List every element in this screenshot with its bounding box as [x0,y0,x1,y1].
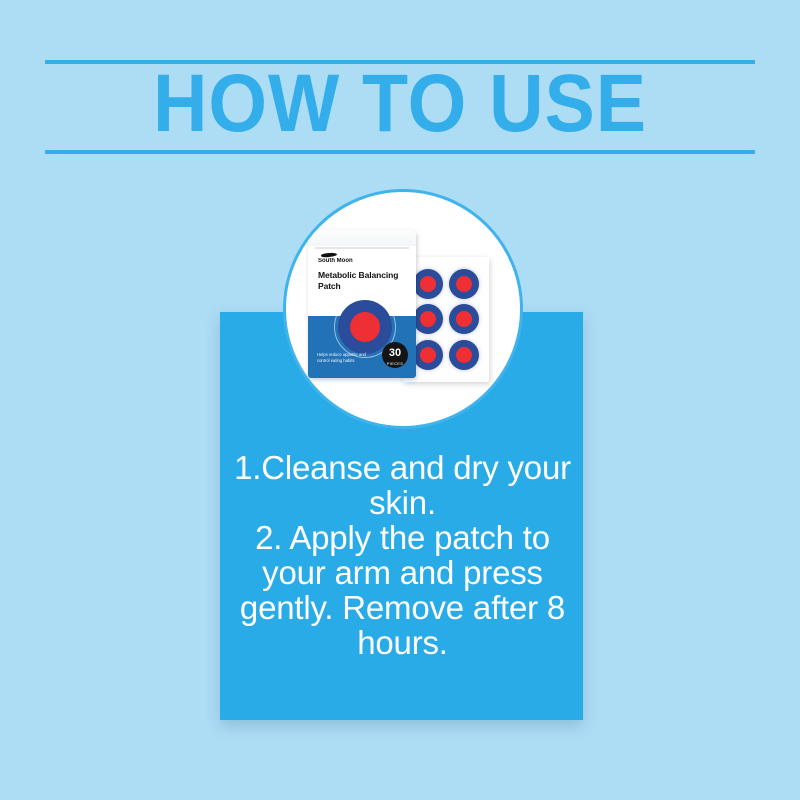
product-photo-circle: South Moon Metabolic Balancing Patch Hel… [283,189,523,429]
page-title: HOW TO USE [32,58,768,150]
instruction-step-2: 2. Apply the patch to your arm and press… [230,520,575,660]
patch-grid [411,267,481,372]
pouch-zip-line [315,247,409,249]
poster-canvas: HOW TO USE 1.Cleanse and dry your skin. … [0,0,800,800]
instruction-text-block: 1.Cleanse and dry your skin. 2. Apply th… [230,450,575,660]
count-badge-number: 30 [382,342,408,361]
pouch-brand-name: South Moon [318,257,378,266]
patch-item [449,304,479,334]
count-badge: 30 PIECES [382,342,408,368]
pouch-top-seal [308,230,416,246]
patch-item [449,269,479,299]
product-pouch: South Moon Metabolic Balancing Patch Hel… [308,230,416,378]
title-rule-bottom [45,150,755,154]
patch-item [449,340,479,370]
count-badge-unit: PIECES [382,361,408,366]
pouch-footnote: Helps reduce appetite and control eating… [317,352,379,364]
pouch-product-name: Metabolic Balancing Patch [318,270,410,292]
patch-item [413,269,443,299]
patch-item [413,304,443,334]
instruction-step-1: 1.Cleanse and dry your skin. [230,450,575,520]
pouch-patch-center [350,312,380,342]
patch-item [413,340,443,370]
product-photo: South Moon Metabolic Balancing Patch Hel… [286,192,523,429]
